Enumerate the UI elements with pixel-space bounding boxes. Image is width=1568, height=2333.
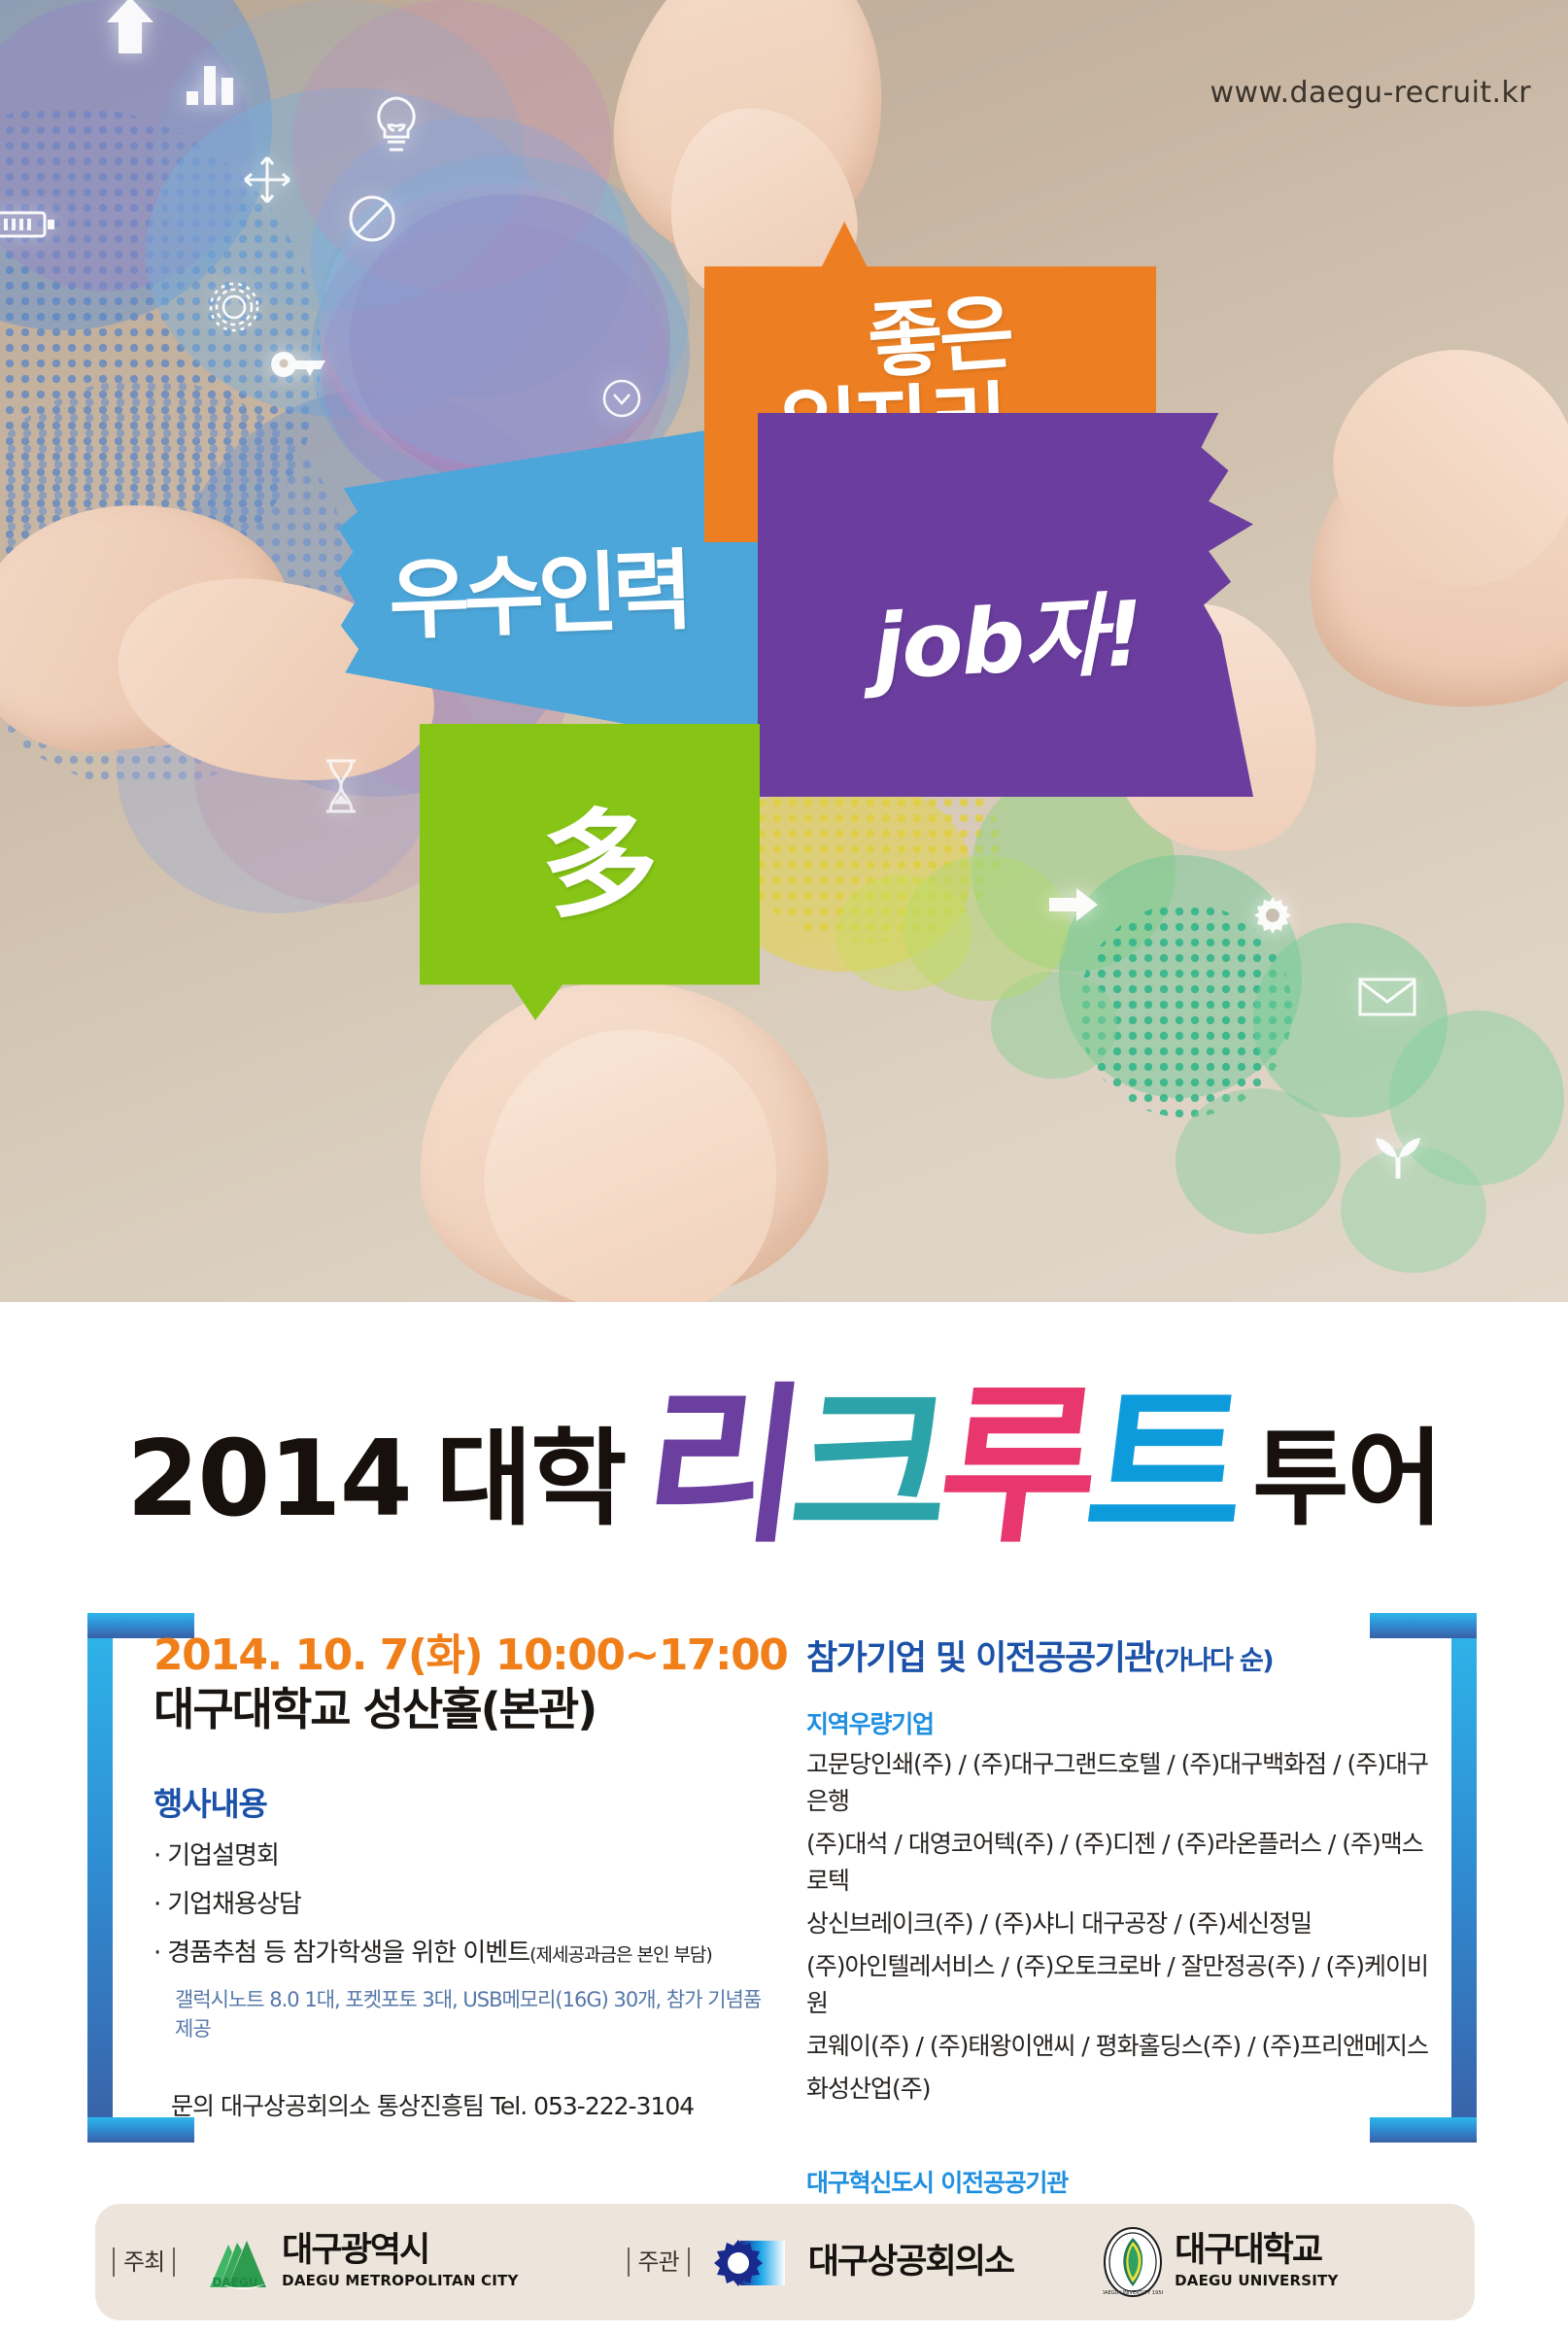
program-item: ·기업채용상담 — [153, 1889, 775, 1922]
program-item: ·기업설명회 — [153, 1840, 775, 1873]
title-univ: 대학 — [436, 1427, 626, 1540]
host-tag: 주최 — [113, 2247, 175, 2277]
logo-daegu-city-en: DAEGU METROPOLITAN CITY — [282, 2272, 518, 2290]
gear-small-icon — [1251, 894, 1294, 941]
participants-column: 참가기업 및 이전공공기관(가나다 순) 지역우량기업 고문당인쇄(주) / (… — [806, 1630, 1428, 2241]
title-tour: 투어 — [1252, 1427, 1442, 1540]
bullet-dot-icon: · — [153, 1890, 160, 1919]
company-line: 화성산업(주) — [806, 2071, 1428, 2108]
bubble-text-blue: 우수인력 — [387, 520, 690, 657]
leaf-icon — [1370, 1132, 1426, 1186]
company-line: (주)아인텔레서비스 / (주)오토크로바 / 잘만정공(주) / (주)케이비… — [806, 1948, 1428, 2022]
title-char-keu: 크 — [785, 1393, 951, 1540]
event-details-column: 2014. 10. 7(화) 10:00~17:00 대구대학교 성산홀(본관)… — [153, 1630, 775, 2122]
logo-daegu-university-en: DAEGU UNIVERSITY — [1175, 2272, 1338, 2290]
arrow-up-icon — [105, 0, 155, 59]
title-char-ri: 리 — [637, 1393, 803, 1540]
speech-bubble-purple: job자! — [758, 413, 1253, 797]
hero-image: 우수인력 좋은 일자리 job자! 多 www.daegu-recruit.kr — [0, 0, 1568, 1302]
public-institutions-label: 대구혁신도시 이전공공기관 — [806, 2164, 1428, 2199]
program-item-text: 기업채용상담 — [167, 1890, 301, 1919]
key-icon — [270, 348, 330, 393]
event-venue: 대구대학교 성산홀(본관) — [153, 1683, 775, 1735]
svg-text:DAEGU: DAEGU — [213, 2276, 258, 2289]
svg-text:DAEGU UNIVERSITY 1956: DAEGU UNIVERSITY 1956 — [1103, 2290, 1163, 2296]
local-companies-label: 지역우량기업 — [806, 1705, 1428, 1740]
program-heading: 행사내용 — [153, 1778, 775, 1825]
program-item: ·경품추첨 등 참가학생을 위한 이벤트(제세공과금은 본인 부담) — [153, 1938, 775, 1971]
program-item-text: 경품추첨 등 참가학생을 위한 이벤트 — [167, 1938, 529, 1968]
logo-dcci: 대구상공회의소 — [713, 2237, 1013, 2287]
chevron-down-icon — [602, 379, 641, 422]
dcci-gear-mark-icon — [713, 2237, 797, 2287]
participants-heading: 참가기업 및 이전공공기관(가나다 순) — [806, 1630, 1428, 1680]
bullet-dot-icon: · — [153, 1841, 160, 1870]
battery-icon — [0, 209, 56, 244]
contact-line: 문의 대구상공회의소 통상진흥팀 Tel. 053-222-3104 — [171, 2087, 775, 2122]
event-date: 2014. 10. 7(화) 10:00~17:00 — [153, 1630, 775, 1681]
logo-daegu-city: DAEGU 대구광역시 DAEGU METROPOLITAN CITY — [198, 2233, 518, 2291]
speech-bubble-green: 多 — [420, 724, 760, 1020]
arrow-right-icon — [1047, 884, 1100, 929]
footer-logos-bar: 주최 DAEGU 대구광역시 DAEGU METROPOLITAN CITY 주… — [95, 2204, 1475, 2320]
participants-heading-main: 참가기업 및 이전공공기관 — [806, 1639, 1154, 1678]
organizer-tag: 주관 — [628, 2247, 690, 2277]
bar-chart-icon — [185, 56, 239, 111]
no-entry-icon — [348, 194, 396, 247]
lightbulb-icon — [369, 95, 424, 163]
bokeh-circle — [835, 875, 971, 991]
program-item-text: 기업설명회 — [167, 1841, 279, 1870]
info-panel: 2014. 10. 7(화) 10:00~17:00 대구대학교 성산홀(본관)… — [87, 1613, 1477, 2143]
move-arrows-icon — [241, 154, 293, 210]
company-line: 상신브레이크(주) / (주)샤니 대구공장 / (주)세신정밀 — [806, 1905, 1428, 1942]
logo-daegu-university-ko: 대구대학교 — [1175, 2234, 1338, 2268]
title-year: 2014 — [126, 1427, 411, 1540]
prize-list: 갤럭시노트 8.0 1대, 포켓포토 3대, USB메모리(16G) 30개, … — [175, 1984, 775, 2042]
daegu-city-mark-icon: DAEGU — [198, 2233, 270, 2291]
company-line: 코웨이(주) / (주)태왕이앤씨 / 평화홀딩스(주) / (주)프리앤메지스 — [806, 2028, 1428, 2065]
company-line: 고문당인쇄(주) / (주)대구그랜드호텔 / (주)대구백화점 / (주)대구… — [806, 1746, 1428, 1820]
bubble-text-green: 多 — [542, 771, 659, 940]
bubble-text-purple: job자! — [869, 562, 1145, 704]
bokeh-circle — [155, 0, 525, 311]
participants-heading-suffix: (가나다 순) — [1154, 1646, 1273, 1676]
daegu-university-mark-icon: DAEGU UNIVERSITY 1956 — [1103, 2226, 1163, 2298]
envelope-icon — [1358, 977, 1416, 1021]
poster-root: 우수인력 좋은 일자리 job자! 多 www.daegu-recruit.kr… — [0, 0, 1568, 2333]
logo-daegu-city-ko: 대구광역시 — [282, 2234, 518, 2268]
program-item-note: (제세공과금은 본인 부담) — [529, 1944, 712, 1966]
poster-title: 2014 대학 리크루트 투어 — [0, 1355, 1568, 1540]
title-char-ru: 루 — [933, 1393, 1099, 1540]
logo-dcci-ko: 대구상공회의소 — [808, 2246, 1013, 2280]
hourglass-icon — [321, 758, 361, 818]
gear-icon — [204, 277, 264, 341]
logo-daegu-university: DAEGU UNIVERSITY 1956 대구대학교 DAEGU UNIVER… — [1103, 2226, 1338, 2298]
title-char-teu: 트 — [1080, 1393, 1246, 1540]
bullet-dot-icon: · — [153, 1938, 160, 1968]
company-line: (주)대석 / 대영코어텍(주) / (주)디젠 / (주)라온플러스 / (주… — [806, 1826, 1428, 1900]
website-url[interactable]: www.daegu-recruit.kr — [1210, 76, 1531, 110]
title-logo-recruit: 리크루트 — [637, 1393, 1245, 1540]
bokeh-circle — [1176, 1088, 1341, 1234]
